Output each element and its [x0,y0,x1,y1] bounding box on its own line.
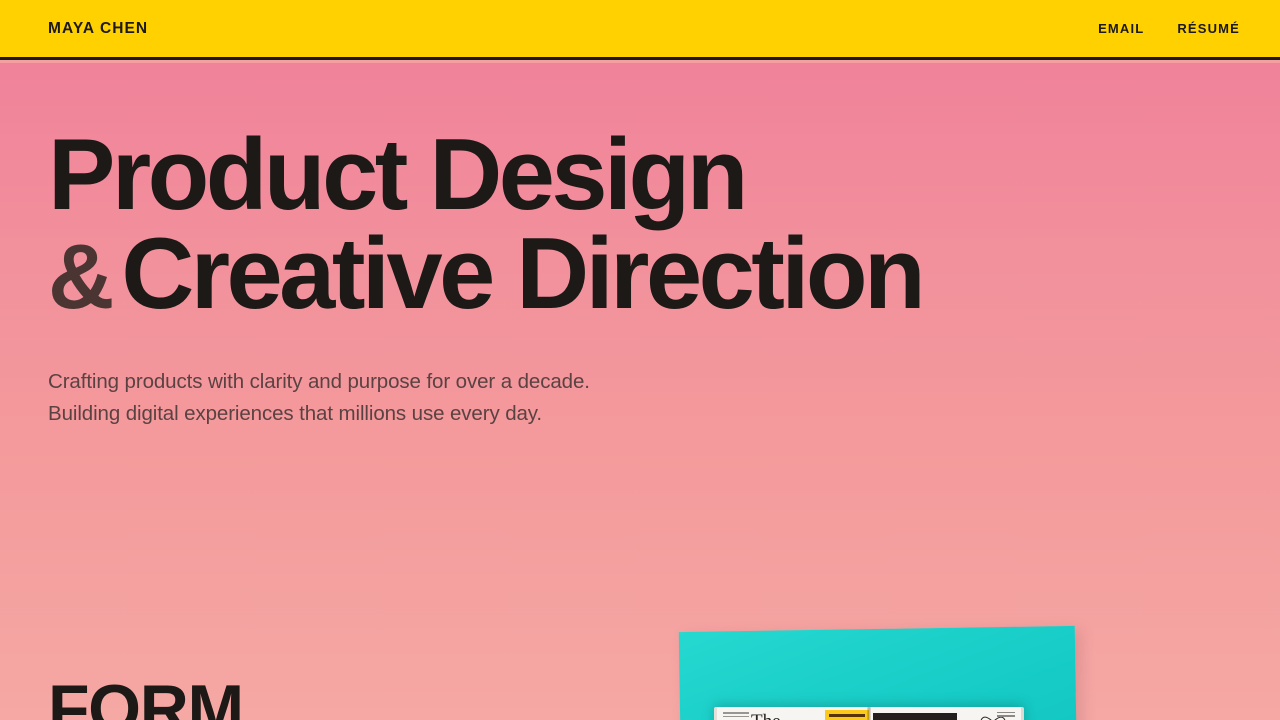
magazine-page-number-mark [997,712,1015,719]
hero-section: Product Design &Creative Direction Craft… [0,63,1280,720]
magazine-the-word: The [751,712,781,720]
magazine-issue-tag [723,712,749,719]
page-root: MAYA CHEN EMAIL RÉSUMÉ Product Design &C… [0,0,1280,720]
hero-subtitle-line-2: Building digital experiences that millio… [48,398,922,430]
magazine-photo: The ZIN [672,565,1076,720]
page-title: Product Design &Creative Direction [48,126,922,324]
teal-backdrop-sheet [679,626,1077,720]
magazine-page-right [869,707,1024,720]
hero-text-block: Product Design &Creative Direction Craft… [48,126,922,431]
main-nav: EMAIL RÉSUMÉ [1098,21,1240,36]
nav-link-email[interactable]: EMAIL [1098,21,1144,36]
open-magazine: The ZIN [714,707,1024,720]
site-header: MAYA CHEN EMAIL RÉSUMÉ [0,0,1280,60]
hero-title-line-1: Product Design [48,126,922,225]
hero-subtitle-line-1: Crafting products with clarity and purpo… [48,366,922,398]
ampersand-glyph: & [48,226,121,328]
nav-link-resume[interactable]: RÉSUMÉ [1177,21,1240,36]
magazine-page-left: The ZIN [714,707,869,720]
hero-title-line-2-text: Creative Direction [121,218,922,330]
hero-subtitle: Crafting products with clarity and purpo… [48,366,922,431]
magazine-yellow-sidebar [825,710,869,720]
site-logo[interactable]: MAYA CHEN [48,20,148,38]
magazine-spine [867,707,871,720]
hero-title-line-2: &Creative Direction [48,225,922,324]
section-heading-form: FORM [48,675,243,720]
magazine-dark-artwork-panel [873,713,957,720]
